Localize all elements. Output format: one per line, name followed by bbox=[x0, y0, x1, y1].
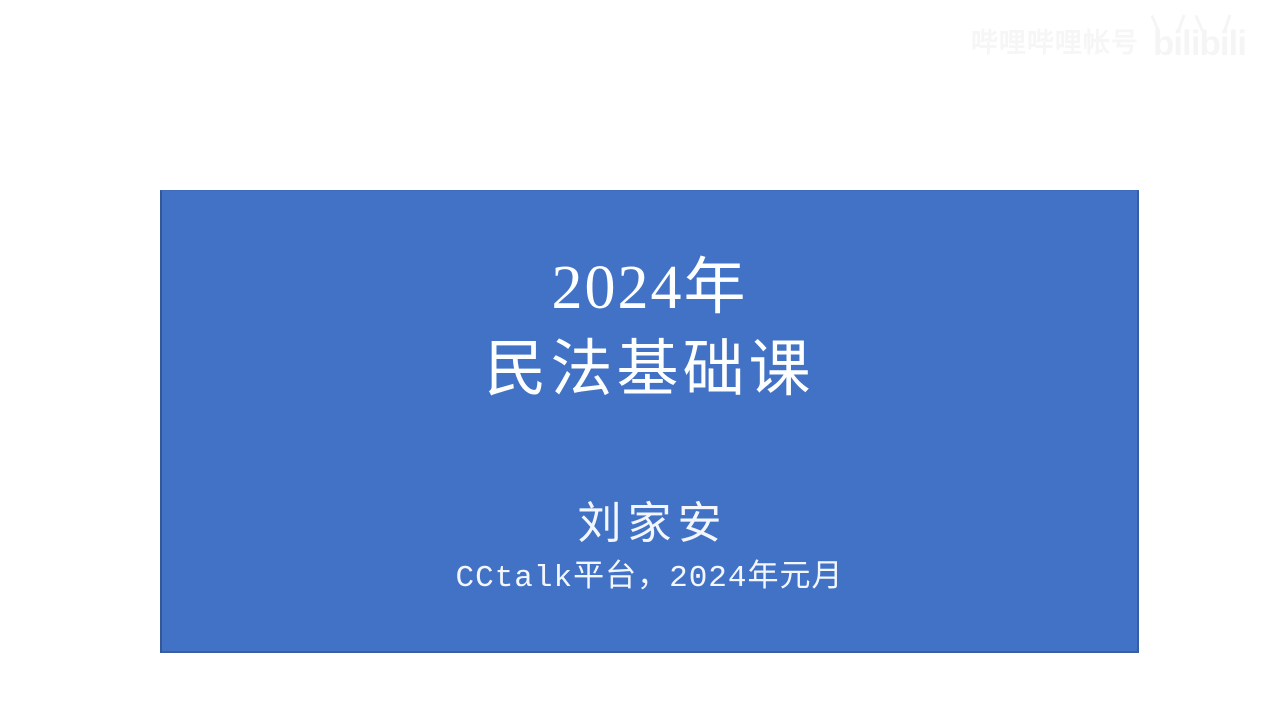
watermark-logo-text: bilibili bbox=[1153, 24, 1246, 63]
author-platform-date: CCtalk平台，2024年元月 bbox=[455, 560, 843, 597]
presentation-slide: 2024年 民法基础课 刘家安 CCtalk平台，2024年元月 bbox=[160, 190, 1139, 653]
bilibili-logo-icon: bilibili bbox=[1153, 16, 1246, 64]
video-player-frame: 哔哩哔哩帐号 bilibili 2024年 民法基础课 刘家安 CCtalk平台… bbox=[0, 0, 1280, 720]
slide-author-block: 刘家安 CCtalk平台，2024年元月 bbox=[455, 498, 843, 597]
bilibili-watermark: 哔哩哔哩帐号 bilibili bbox=[971, 16, 1246, 64]
slide-content: 2024年 民法基础课 刘家安 CCtalk平台，2024年元月 bbox=[162, 191, 1137, 651]
watermark-username: 哔哩哔哩帐号 bbox=[971, 21, 1139, 60]
title-line-course: 民法基础课 bbox=[484, 330, 814, 412]
slide-title: 2024年 民法基础课 bbox=[484, 248, 814, 412]
bilibili-tv-ears-icon bbox=[1155, 14, 1241, 30]
title-line-year: 2024年 bbox=[484, 248, 814, 330]
author-name: 刘家安 bbox=[455, 498, 843, 550]
